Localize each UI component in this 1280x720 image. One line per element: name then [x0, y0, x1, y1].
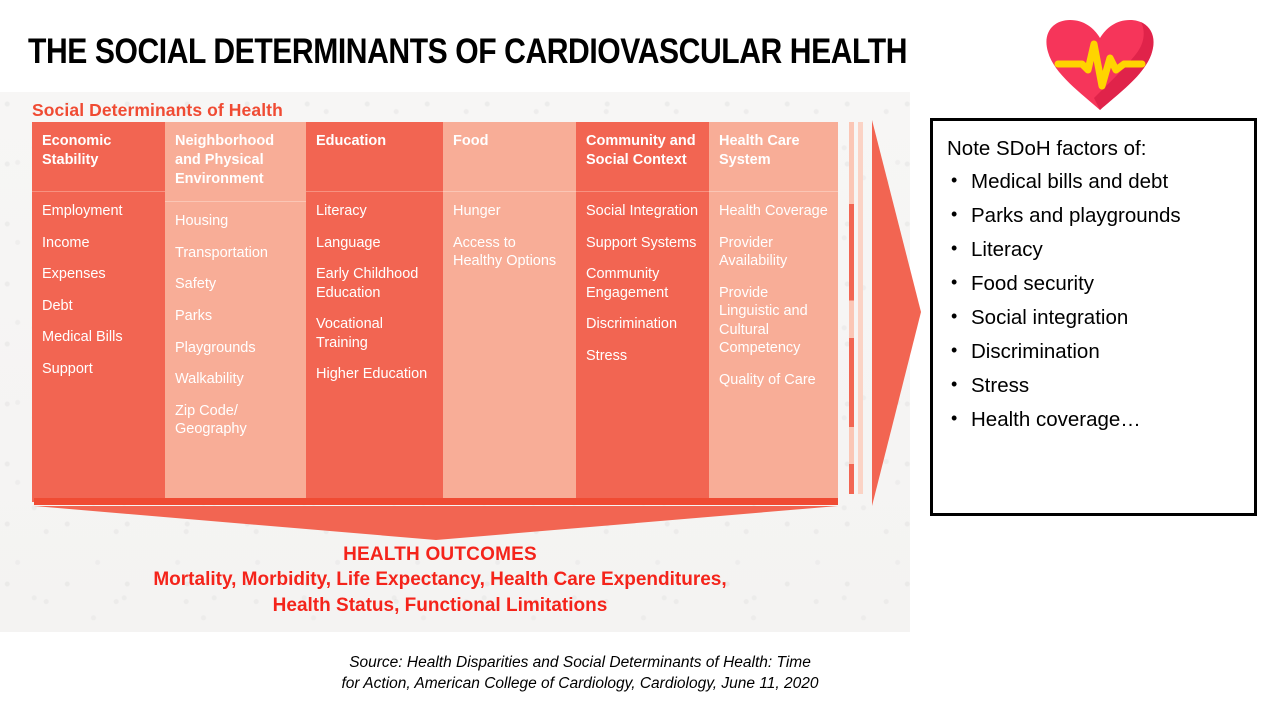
- source-line2: for Action, American College of Cardiolo…: [300, 673, 860, 694]
- bullet-icon: •: [947, 271, 971, 294]
- bullet-icon: •: [947, 203, 971, 226]
- bullet-icon: •: [947, 305, 971, 328]
- column-header: Health Care System: [709, 122, 838, 192]
- column-header: Economic Stability: [32, 122, 165, 192]
- bullet-icon: •: [947, 169, 971, 192]
- sdoh-column-education: Education Literacy Language Early Childh…: [306, 122, 443, 502]
- column-body: Literacy Language Early Childhood Educat…: [306, 192, 443, 492]
- source-citation: Source: Health Disparities and Social De…: [300, 652, 860, 695]
- column-item: Discrimination: [586, 315, 699, 334]
- sdoh-table: Economic Stability Employment Income Exp…: [32, 122, 838, 502]
- health-outcomes-line1: Mortality, Morbidity, Life Expectancy, H…: [0, 568, 880, 592]
- column-header: Food: [443, 122, 576, 192]
- list-item: • Social integration: [947, 305, 1242, 330]
- table-edge-strip-a: [849, 122, 854, 494]
- sdoh-infographic: Social Determinants of Health Economic S…: [0, 92, 910, 632]
- sdoh-column-community-social-context: Community and Social Context Social Inte…: [576, 122, 709, 502]
- column-item: Access to Healthy Options: [453, 234, 566, 271]
- column-item: Playgrounds: [175, 339, 296, 358]
- column-item: Provide Linguistic and Cultural Competen…: [719, 284, 828, 358]
- list-item: • Literacy: [947, 237, 1242, 262]
- note-title: Note SDoH factors of:: [947, 137, 1242, 162]
- column-item: Zip Code/ Geography: [175, 402, 296, 439]
- right-arrow-icon: [869, 118, 925, 508]
- list-item: • Medical bills and debt: [947, 169, 1242, 194]
- heart-pulse-icon: [1038, 14, 1162, 112]
- column-item: Community Engagement: [586, 265, 699, 302]
- column-header: Education: [306, 122, 443, 192]
- column-item: Parks: [175, 307, 296, 326]
- list-item-label: Social integration: [971, 305, 1128, 330]
- column-item: Medical Bills: [42, 328, 155, 347]
- list-item: • Health coverage…: [947, 407, 1242, 432]
- list-item-label: Medical bills and debt: [971, 169, 1168, 194]
- column-item: Social Integration: [586, 202, 699, 221]
- list-item-label: Parks and playgrounds: [971, 203, 1181, 228]
- table-edge-strip-b: [858, 122, 863, 494]
- list-item-label: Literacy: [971, 237, 1043, 262]
- bullet-icon: •: [947, 407, 971, 430]
- column-item: Safety: [175, 275, 296, 294]
- column-item: Debt: [42, 297, 155, 316]
- bullet-icon: •: [947, 237, 971, 260]
- bullet-icon: •: [947, 339, 971, 362]
- column-body: Hunger Access to Healthy Options: [443, 192, 576, 492]
- list-item: • Parks and playgrounds: [947, 203, 1242, 228]
- column-item: Walkability: [175, 370, 296, 389]
- health-outcomes-title: HEALTH OUTCOMES: [0, 544, 880, 566]
- column-item: Employment: [42, 202, 155, 221]
- list-item-label: Discrimination: [971, 339, 1100, 364]
- bullet-icon: •: [947, 373, 971, 396]
- sdoh-label: Social Determinants of Health: [32, 100, 283, 121]
- note-list: • Medical bills and debt • Parks and pla…: [947, 169, 1242, 432]
- column-item: Support: [42, 360, 155, 379]
- column-header: Neighborhood and Physical Environment: [165, 122, 306, 202]
- health-outcomes-line2: Health Status, Functional Limitations: [0, 594, 880, 618]
- column-item: Income: [42, 234, 155, 253]
- health-outcomes-bar: [34, 498, 838, 505]
- source-line1: Source: Health Disparities and Social De…: [300, 652, 860, 673]
- column-item: Provider Availability: [719, 234, 828, 271]
- column-item: Early Childhood Education: [316, 265, 433, 302]
- column-item: Vocational Training: [316, 315, 433, 352]
- column-item: Higher Education: [316, 365, 433, 384]
- sdoh-column-economic-stability: Economic Stability Employment Income Exp…: [32, 122, 165, 502]
- sdoh-column-health-care-system: Health Care System Health Coverage Provi…: [709, 122, 838, 502]
- column-item: Language: [316, 234, 433, 253]
- column-item: Health Coverage: [719, 202, 828, 221]
- column-item: Literacy: [316, 202, 433, 221]
- column-item: Quality of Care: [719, 371, 828, 390]
- column-item: Hunger: [453, 202, 566, 221]
- sdoh-column-neighborhood-physical-environment: Neighborhood and Physical Environment Ho…: [165, 122, 306, 502]
- health-outcomes-block: HEALTH OUTCOMES Mortality, Morbidity, Li…: [0, 544, 880, 619]
- column-item: Stress: [586, 347, 699, 366]
- column-body: Social Integration Support Systems Commu…: [576, 192, 709, 492]
- column-item: Transportation: [175, 244, 296, 263]
- column-item: Housing: [175, 212, 296, 231]
- column-header: Community and Social Context: [576, 122, 709, 192]
- list-item-label: Food security: [971, 271, 1094, 296]
- column-body: Employment Income Expenses Debt Medical …: [32, 192, 165, 492]
- list-item: • Stress: [947, 373, 1242, 398]
- column-item: Expenses: [42, 265, 155, 284]
- list-item-label: Stress: [971, 373, 1029, 398]
- list-item-label: Health coverage…: [971, 407, 1141, 432]
- list-item: • Discrimination: [947, 339, 1242, 364]
- note-box: Note SDoH factors of: • Medical bills an…: [930, 118, 1257, 516]
- sdoh-column-food: Food Hunger Access to Healthy Options: [443, 122, 576, 502]
- page-title: THE SOCIAL DETERMINANTS OF CARDIOVASCULA…: [28, 32, 907, 72]
- column-item: Support Systems: [586, 234, 699, 253]
- health-outcomes-triangle: [34, 506, 838, 540]
- column-body: Housing Transportation Safety Parks Play…: [165, 202, 306, 502]
- list-item: • Food security: [947, 271, 1242, 296]
- column-body: Health Coverage Provider Availability Pr…: [709, 192, 838, 492]
